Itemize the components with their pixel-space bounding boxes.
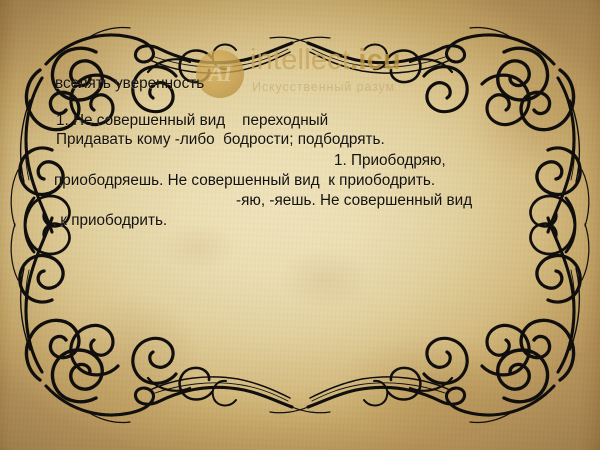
dictionary-entry: вселять уверенность 1. Не совершенный ви…: [0, 0, 600, 450]
entry-line-6: к приободрить.: [56, 211, 167, 231]
entry-line-3: 1. Приободряю,: [334, 151, 446, 171]
entry-line-2: Придавать кому -либо бодрости; подбодрят…: [56, 130, 385, 150]
parchment-card: AI intellect.icu Искусственный разум все…: [0, 0, 600, 450]
entry-headword: вселять уверенность: [55, 74, 204, 94]
entry-line-5: -яю, -яешь. Не совершенный вид: [236, 191, 472, 211]
entry-line-1: 1. Не совершенный вид переходный: [56, 111, 328, 131]
entry-line-4: приободряешь. Не совершенный вид к приоб…: [54, 171, 435, 191]
